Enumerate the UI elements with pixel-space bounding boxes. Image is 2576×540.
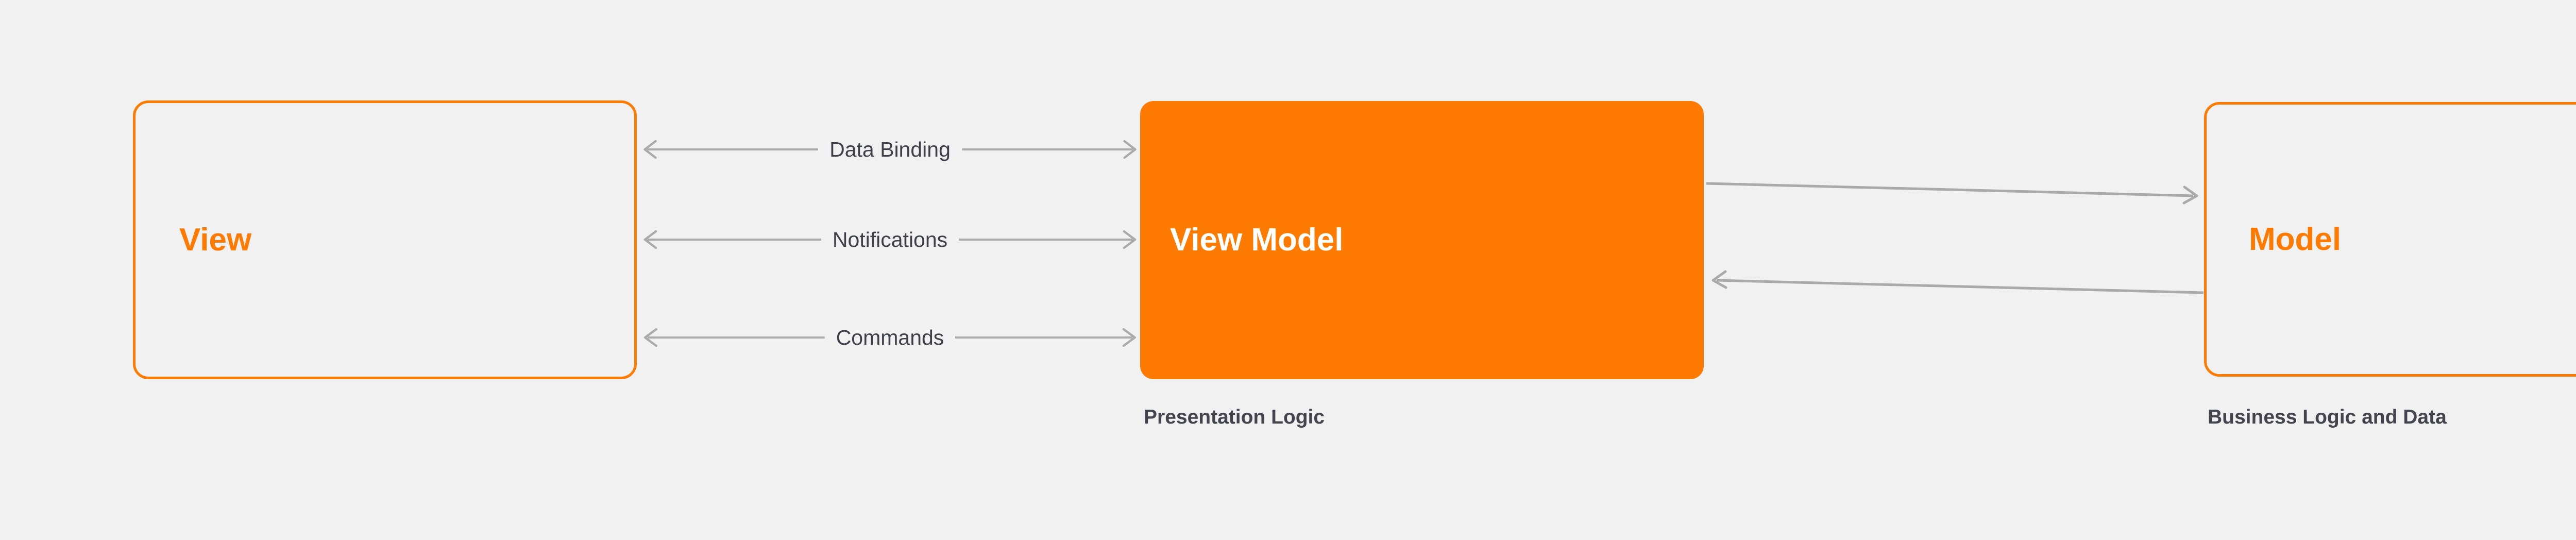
arrow-right-segment <box>955 312 1141 363</box>
node-view-label: View <box>179 224 251 256</box>
node-view-model[interactable]: View Model <box>1140 101 1704 379</box>
caption-presentation-logic: Presentation Logic <box>1144 407 1325 427</box>
arrow-right-segment <box>962 124 1141 175</box>
arrow-left-segment <box>639 124 818 175</box>
node-model-label: Model <box>2249 224 2341 256</box>
connector-label-commands: Commands <box>825 327 956 348</box>
arrow-left-segment <box>639 214 821 265</box>
node-model[interactable]: Model <box>2204 102 2576 377</box>
node-view-model-label: View Model <box>1170 224 1344 256</box>
connector-model-to-viewmodel <box>1706 263 2204 304</box>
node-view[interactable]: View <box>133 100 637 379</box>
arrow-right-segment <box>959 214 1141 265</box>
diagram-canvas: View Data Binding Notifications <box>0 0 2576 540</box>
connector-label-notifications: Notifications <box>821 229 959 250</box>
connector-viewmodel-to-model <box>1706 170 2204 211</box>
connector-label-data-binding: Data Binding <box>818 139 962 160</box>
arrow-left-segment <box>639 312 825 363</box>
connector-data-binding: Data Binding <box>639 124 1141 175</box>
connector-commands: Commands <box>639 312 1141 363</box>
caption-business-logic-and-data: Business Logic and Data <box>2208 407 2447 427</box>
connector-notifications: Notifications <box>639 214 1141 265</box>
